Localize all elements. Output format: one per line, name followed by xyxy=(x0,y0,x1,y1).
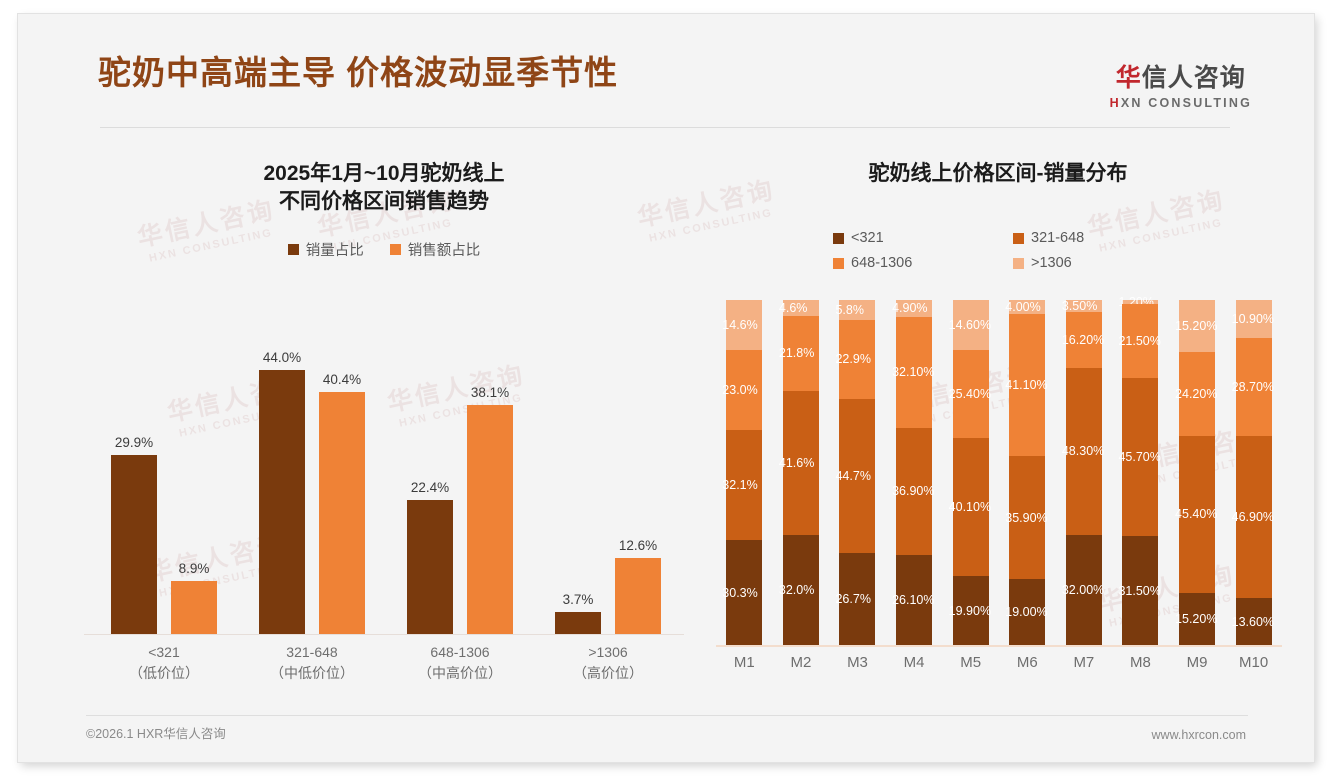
stacked-bar[interactable]: 4.00%41.10%35.90%19.00% xyxy=(1009,300,1045,645)
stacked-bar[interactable]: 3.50%16.20%48.30%32.00% xyxy=(1066,300,1102,645)
bar-value-label: 12.6% xyxy=(619,538,657,553)
legend-swatch-icon xyxy=(1013,233,1024,244)
stack-segment[interactable]: 21.50% xyxy=(1122,304,1158,378)
bar-column[interactable]: 44.0% xyxy=(259,334,305,634)
stack-segment[interactable]: 16.20% xyxy=(1066,312,1102,368)
left-chart-bars: 29.9%8.9%44.0%40.4%22.4%38.1%3.7%12.6% xyxy=(90,334,682,634)
segment-value-label: 22.9% xyxy=(835,352,870,366)
legend-label: 销量占比 xyxy=(306,239,364,260)
stack-segment[interactable]: 48.30% xyxy=(1066,368,1102,535)
x-axis-label: M10 xyxy=(1225,654,1282,671)
logo-chinese-first-char: 华 xyxy=(1116,64,1142,92)
stack-segment[interactable]: 5.8% xyxy=(839,300,875,320)
stack-segment[interactable]: 13.60% xyxy=(1236,598,1272,645)
bar-group: 3.7%12.6% xyxy=(534,334,682,634)
stacked-bar-group: 4.00%41.10%35.90%19.00% xyxy=(999,300,1056,645)
stack-segment[interactable]: 36.90% xyxy=(896,428,932,555)
segment-value-label: 19.90% xyxy=(949,604,991,618)
footer-copyright: ©2026.1 HXR华信人咨询 xyxy=(86,723,226,742)
segment-value-label: 14.60% xyxy=(949,318,991,332)
segment-value-label: 4.00% xyxy=(1005,300,1040,314)
segment-value-label: 32.1% xyxy=(722,478,757,492)
bar[interactable] xyxy=(407,500,453,634)
stack-segment[interactable]: 45.40% xyxy=(1179,436,1215,593)
segment-value-label: 21.50% xyxy=(1118,334,1160,348)
bar-group: 29.9%8.9% xyxy=(90,334,238,634)
stacked-bar[interactable]: 15.20%24.20%45.40%15.20% xyxy=(1179,300,1215,645)
bar[interactable] xyxy=(171,581,217,634)
bar-column[interactable]: 40.4% xyxy=(319,334,365,634)
stack-segment[interactable]: 15.20% xyxy=(1179,300,1215,352)
legend-swatch-icon xyxy=(390,244,401,255)
stack-segment[interactable]: 35.90% xyxy=(1009,456,1045,580)
stack-segment[interactable]: 32.0% xyxy=(783,535,819,645)
segment-value-label: 46.90% xyxy=(1232,510,1274,524)
left-chart-panel: 2025年1月~10月驼奶线上 不同价格区间销售趋势 销量占比销售额占比 29.… xyxy=(64,134,704,694)
bar-group: 44.0%40.4% xyxy=(238,334,386,634)
segment-value-label: 23.0% xyxy=(722,383,757,397)
x-axis-label: 648-1306 （中高价位） xyxy=(386,642,534,684)
footer-divider xyxy=(86,715,1248,716)
stacked-bar[interactable]: 14.60%25.40%40.10%19.90% xyxy=(953,300,989,645)
logo-english: HXN CONSULTING xyxy=(1110,96,1252,110)
logo-chinese: 华信人咨询 xyxy=(1110,66,1252,91)
bar-column[interactable]: 12.6% xyxy=(615,334,661,634)
stack-segment[interactable]: 4.90% xyxy=(896,300,932,317)
segment-value-label: 45.40% xyxy=(1175,507,1217,521)
x-axis-label: M6 xyxy=(999,654,1056,671)
segment-value-label: 14.6% xyxy=(722,318,757,332)
left-chart-legend: 销量占比销售额占比 xyxy=(64,239,704,260)
stack-segment[interactable]: 32.00% xyxy=(1066,535,1102,645)
stack-segment[interactable]: 3.50% xyxy=(1066,300,1102,312)
segment-value-label: 32.00% xyxy=(1062,583,1104,597)
stacked-bar[interactable]: 5.8%22.9%44.7%26.7% xyxy=(839,300,875,645)
bar-value-label: 3.7% xyxy=(563,592,594,607)
footer-website: www.hxrcon.com xyxy=(1152,728,1246,742)
legend-label: 销售额占比 xyxy=(408,239,481,260)
stacked-bar-group: 5.8%22.9%44.7%26.7% xyxy=(829,300,886,645)
bar-column[interactable]: 22.4% xyxy=(407,334,453,634)
segment-value-label: 44.7% xyxy=(835,469,870,483)
stacked-bar[interactable]: 4.90%32.10%36.90%26.10% xyxy=(896,300,932,645)
legend-label: 648-1306 xyxy=(851,255,912,271)
bar-value-label: 40.4% xyxy=(323,372,361,387)
legend-swatch-icon xyxy=(833,258,844,269)
right-chart-panel: 驼奶线上价格区间-销量分布 <321321-648648-1306>1306 1… xyxy=(708,134,1288,694)
bar-value-label: 22.4% xyxy=(411,480,449,495)
segment-value-label: 15.20% xyxy=(1175,319,1217,333)
bar-value-label: 38.1% xyxy=(471,385,509,400)
segment-value-label: 35.90% xyxy=(1005,511,1047,525)
page-title: 驼奶中高端主导 价格波动显季节性 xyxy=(98,46,618,94)
stack-segment[interactable]: 41.6% xyxy=(783,391,819,535)
stack-segment[interactable]: 14.6% xyxy=(726,300,762,350)
bar-group: 22.4%38.1% xyxy=(386,334,534,634)
segment-value-label: 41.10% xyxy=(1005,378,1047,392)
segment-value-label: 26.7% xyxy=(835,592,870,606)
logo-english-first-char: H xyxy=(1110,96,1121,110)
segment-value-label: 32.10% xyxy=(892,365,934,379)
legend-item-0[interactable]: 销量占比 xyxy=(288,239,364,260)
right-chart-x-labels: M1M2M3M4M5M6M7M8M9M10 xyxy=(716,654,1282,671)
segment-value-label: 19.00% xyxy=(1005,605,1047,619)
stack-segment[interactable]: 22.9% xyxy=(839,320,875,399)
bar[interactable] xyxy=(615,558,661,634)
segment-value-label: 45.70% xyxy=(1118,450,1160,464)
legend-item-1[interactable]: 销售额占比 xyxy=(390,239,481,260)
legend-item-1[interactable]: 321-648 xyxy=(1013,230,1163,246)
stack-segment[interactable]: 4.00% xyxy=(1009,300,1045,314)
logo-chinese-rest: 信人咨询 xyxy=(1142,64,1246,92)
stacked-bar[interactable]: 4.6%21.8%41.6%32.0% xyxy=(783,300,819,645)
bar-column[interactable]: 29.9% xyxy=(111,334,157,634)
legend-label: <321 xyxy=(851,230,884,246)
segment-value-label: 26.10% xyxy=(892,593,934,607)
segment-value-label: 36.90% xyxy=(892,484,934,498)
segment-value-label: 40.10% xyxy=(949,500,991,514)
segment-value-label: 32.0% xyxy=(779,583,814,597)
segment-value-label: 31.50% xyxy=(1118,584,1160,598)
bar[interactable] xyxy=(555,612,601,634)
legend-swatch-icon xyxy=(833,233,844,244)
stacked-bar-group: 14.6%23.0%32.1%30.3% xyxy=(716,300,773,645)
x-axis-label: >1306 （高价位） xyxy=(534,642,682,684)
legend-item-0[interactable]: <321 xyxy=(833,230,983,246)
stacked-bar-group: 4.6%21.8%41.6%32.0% xyxy=(773,300,830,645)
stack-segment[interactable]: 30.3% xyxy=(726,540,762,645)
bar[interactable] xyxy=(467,405,513,634)
bar[interactable] xyxy=(259,370,305,634)
slide-header: 驼奶中高端主导 价格波动显季节性 华信人咨询 HXN CONSULTING xyxy=(18,14,1314,126)
bar[interactable] xyxy=(319,392,365,634)
left-chart-axis-line xyxy=(84,634,684,635)
segment-value-label: 15.20% xyxy=(1175,612,1217,626)
x-axis-label: M9 xyxy=(1169,654,1226,671)
segment-value-label: 4.6% xyxy=(779,301,808,315)
logo-english-rest: XN CONSULTING xyxy=(1121,96,1252,110)
stacked-bar-group: 15.20%24.20%45.40%15.20% xyxy=(1169,300,1226,645)
stack-segment[interactable]: 21.8% xyxy=(783,316,819,391)
stacked-bar[interactable]: 1.20%21.50%45.70%31.50% xyxy=(1122,300,1158,645)
stacked-bar-group: 14.60%25.40%40.10%19.90% xyxy=(942,300,999,645)
legend-item-3[interactable]: >1306 xyxy=(1013,255,1163,271)
legend-label: 321-648 xyxy=(1031,230,1084,246)
bar[interactable] xyxy=(111,455,157,634)
stacked-bar-group: 10.90%28.70%46.90%13.60% xyxy=(1225,300,1282,645)
left-chart-x-labels: <321 （低价位）321-648 （中低价位）648-1306 （中高价位）>… xyxy=(90,642,682,684)
segment-value-label: 3.50% xyxy=(1062,299,1097,313)
x-axis-label: 321-648 （中低价位） xyxy=(238,642,386,684)
right-chart-axis-line xyxy=(716,645,1282,647)
stack-segment[interactable]: 45.70% xyxy=(1122,378,1158,536)
stack-segment[interactable]: 40.10% xyxy=(953,438,989,576)
stack-segment[interactable]: 41.10% xyxy=(1009,314,1045,456)
stack-segment[interactable]: 19.90% xyxy=(953,576,989,645)
segment-value-label: 4.90% xyxy=(892,301,927,315)
segment-value-label: 41.6% xyxy=(779,456,814,470)
right-chart-stacked-bars: 14.6%23.0%32.1%30.3%4.6%21.8%41.6%32.0%5… xyxy=(716,300,1282,645)
stacked-bar[interactable]: 10.90%28.70%46.90%13.60% xyxy=(1236,300,1272,645)
x-axis-label: <321 （低价位） xyxy=(90,642,238,684)
stack-segment[interactable]: 25.40% xyxy=(953,350,989,438)
right-chart-legend: <321321-648648-1306>1306 xyxy=(708,230,1288,271)
x-axis-label: M7 xyxy=(1056,654,1113,671)
stack-segment[interactable]: 32.1% xyxy=(726,430,762,541)
legend-label: >1306 xyxy=(1031,255,1072,271)
stacked-bar[interactable]: 14.6%23.0%32.1%30.3% xyxy=(726,300,762,645)
x-axis-label: M2 xyxy=(773,654,830,671)
stack-segment[interactable]: 28.70% xyxy=(1236,338,1272,437)
stack-segment[interactable]: 23.0% xyxy=(726,350,762,429)
segment-value-label: 28.70% xyxy=(1232,380,1274,394)
segment-value-label: 5.8% xyxy=(835,303,864,317)
stack-segment[interactable]: 14.60% xyxy=(953,300,989,350)
legend-swatch-icon xyxy=(1013,258,1024,269)
segment-value-label: 25.40% xyxy=(949,387,991,401)
segment-value-label: 21.8% xyxy=(779,346,814,360)
bar-value-label: 8.9% xyxy=(179,561,210,576)
right-chart-title: 驼奶线上价格区间-销量分布 xyxy=(708,160,1288,188)
x-axis-label: M1 xyxy=(716,654,773,671)
stack-segment[interactable]: 44.7% xyxy=(839,399,875,553)
segment-value-label: 48.30% xyxy=(1062,444,1104,458)
segment-value-label: 24.20% xyxy=(1175,387,1217,401)
segment-value-label: 30.3% xyxy=(722,586,757,600)
stack-segment[interactable]: 31.50% xyxy=(1122,536,1158,645)
stack-segment[interactable]: 10.90% xyxy=(1236,300,1272,338)
segment-value-label: 16.20% xyxy=(1062,333,1104,347)
x-axis-label: M3 xyxy=(829,654,886,671)
x-axis-label: M5 xyxy=(942,654,999,671)
bar-column[interactable]: 8.9% xyxy=(171,334,217,634)
x-axis-label: M4 xyxy=(886,654,943,671)
bar-value-label: 44.0% xyxy=(263,350,301,365)
x-axis-label: M8 xyxy=(1112,654,1169,671)
bar-value-label: 29.9% xyxy=(115,435,153,450)
stack-segment[interactable]: 15.20% xyxy=(1179,593,1215,645)
legend-item-2[interactable]: 648-1306 xyxy=(833,255,983,271)
stacked-bar-group: 4.90%32.10%36.90%26.10% xyxy=(886,300,943,645)
stack-segment[interactable]: 19.00% xyxy=(1009,579,1045,645)
stack-segment[interactable]: 4.6% xyxy=(783,300,819,316)
company-logo: 华信人咨询 HXN CONSULTING xyxy=(1110,66,1252,110)
stack-segment[interactable]: 46.90% xyxy=(1236,436,1272,598)
stack-segment[interactable]: 26.10% xyxy=(896,555,932,645)
legend-swatch-icon xyxy=(288,244,299,255)
stack-segment[interactable]: 24.20% xyxy=(1179,352,1215,435)
stack-segment[interactable]: 32.10% xyxy=(896,317,932,428)
slide: 驼奶中高端主导 价格波动显季节性 华信人咨询 HXN CONSULTING 华信… xyxy=(18,14,1314,762)
stacked-bar-group: 1.20%21.50%45.70%31.50% xyxy=(1112,300,1169,645)
bar-column[interactable]: 38.1% xyxy=(467,334,513,634)
segment-value-label: 10.90% xyxy=(1232,312,1274,326)
left-chart-title: 2025年1月~10月驼奶线上 不同价格区间销售趋势 xyxy=(64,160,704,217)
segment-value-label: 13.60% xyxy=(1232,615,1274,629)
stack-segment[interactable]: 26.7% xyxy=(839,553,875,645)
header-divider xyxy=(100,127,1230,128)
bar-column[interactable]: 3.7% xyxy=(555,334,601,634)
stacked-bar-group: 3.50%16.20%48.30%32.00% xyxy=(1056,300,1113,645)
